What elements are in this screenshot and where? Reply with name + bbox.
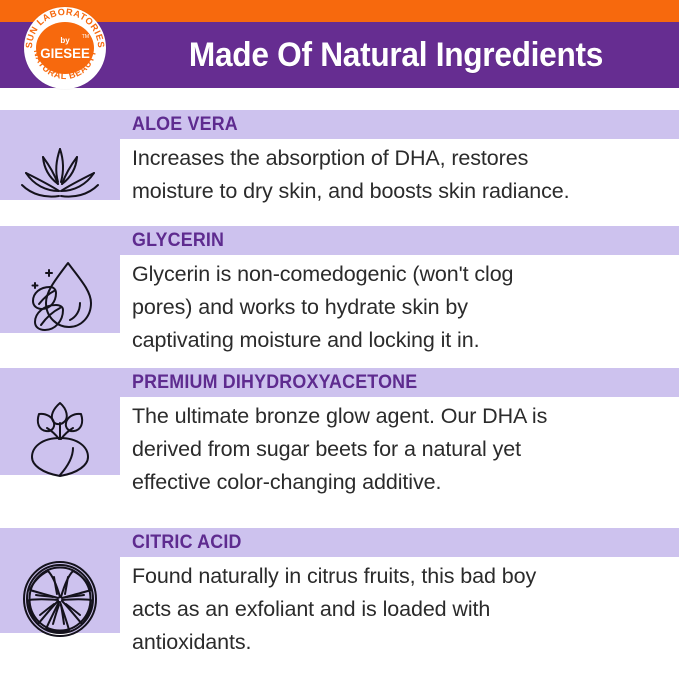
ingredient-title: ALOE VERA (132, 114, 238, 136)
ingredient-section-glycerin: GLYCERIN Glycerin is non-comedogenic (wo… (0, 226, 679, 368)
ingredient-icon-cell (0, 139, 120, 200)
water-droplet-leaves-icon (18, 257, 102, 333)
ingredient-text-cell: Found naturally in citrus fruits, this b… (120, 557, 679, 633)
ingredient-description: Found naturally in citrus fruits, this b… (132, 560, 661, 659)
ingredient-body-row: The ultimate bronze glow agent. Our DHA … (0, 397, 679, 475)
page-title: Made Of Natural Ingredients (137, 22, 654, 88)
orange-accent-strip (0, 0, 679, 22)
logo-trademark-mark: TM (82, 35, 89, 40)
page-header: SUN LABORATORIES NATURAL BEAUTY by GIESE… (0, 0, 679, 110)
citrus-slice-icon (18, 559, 102, 639)
ingredient-description: Glycerin is non-comedogenic (won't clog … (132, 258, 661, 357)
ingredient-icon-cell (0, 255, 120, 333)
logo-by-label: by (60, 37, 69, 45)
ingredient-title: PREMIUM DIHYDROXYACETONE (132, 372, 417, 394)
ingredient-title-band: ALOE VERA (0, 110, 679, 139)
ingredient-title-band: CITRIC ACID (0, 528, 679, 557)
ingredient-description: The ultimate bronze glow agent. Our DHA … (132, 400, 661, 499)
ingredient-body-row: Found naturally in citrus fruits, this b… (0, 557, 679, 633)
aloe-plant-icon (12, 141, 108, 203)
ingredient-title-band: GLYCERIN (0, 226, 679, 255)
ingredient-text-cell: The ultimate bronze glow agent. Our DHA … (120, 397, 679, 475)
ingredient-body-row: Increases the absorption of DHA, restore… (0, 139, 679, 200)
ingredient-body-row: Glycerin is non-comedogenic (won't clog … (0, 255, 679, 333)
sugar-beet-icon (20, 399, 100, 479)
logo-badge: by GIESEE TM (36, 22, 94, 74)
ingredient-title: GLYCERIN (132, 230, 224, 252)
ingredient-section-dihydroxyacetone: PREMIUM DIHYDROXYACETONE The ultimate br… (0, 368, 679, 528)
logo-brand-name: GIESEE (40, 46, 90, 60)
ingredient-section-aloe-vera: ALOE VERA Increases the absorption of DH… (0, 110, 679, 226)
ingredient-text-cell: Increases the absorption of DHA, restore… (120, 139, 679, 200)
ingredient-title-band: PREMIUM DIHYDROXYACETONE (0, 368, 679, 397)
ingredient-title: CITRIC ACID (132, 532, 242, 554)
ingredient-section-citric-acid: CITRIC ACID Fou (0, 528, 679, 679)
brand-logo: SUN LABORATORIES NATURAL BEAUTY by GIESE… (24, 7, 106, 89)
ingredient-description: Increases the absorption of DHA, restore… (132, 142, 661, 208)
ingredient-text-cell: Glycerin is non-comedogenic (won't clog … (120, 255, 679, 333)
ingredient-icon-cell (0, 397, 120, 475)
ingredient-icon-cell (0, 557, 120, 633)
